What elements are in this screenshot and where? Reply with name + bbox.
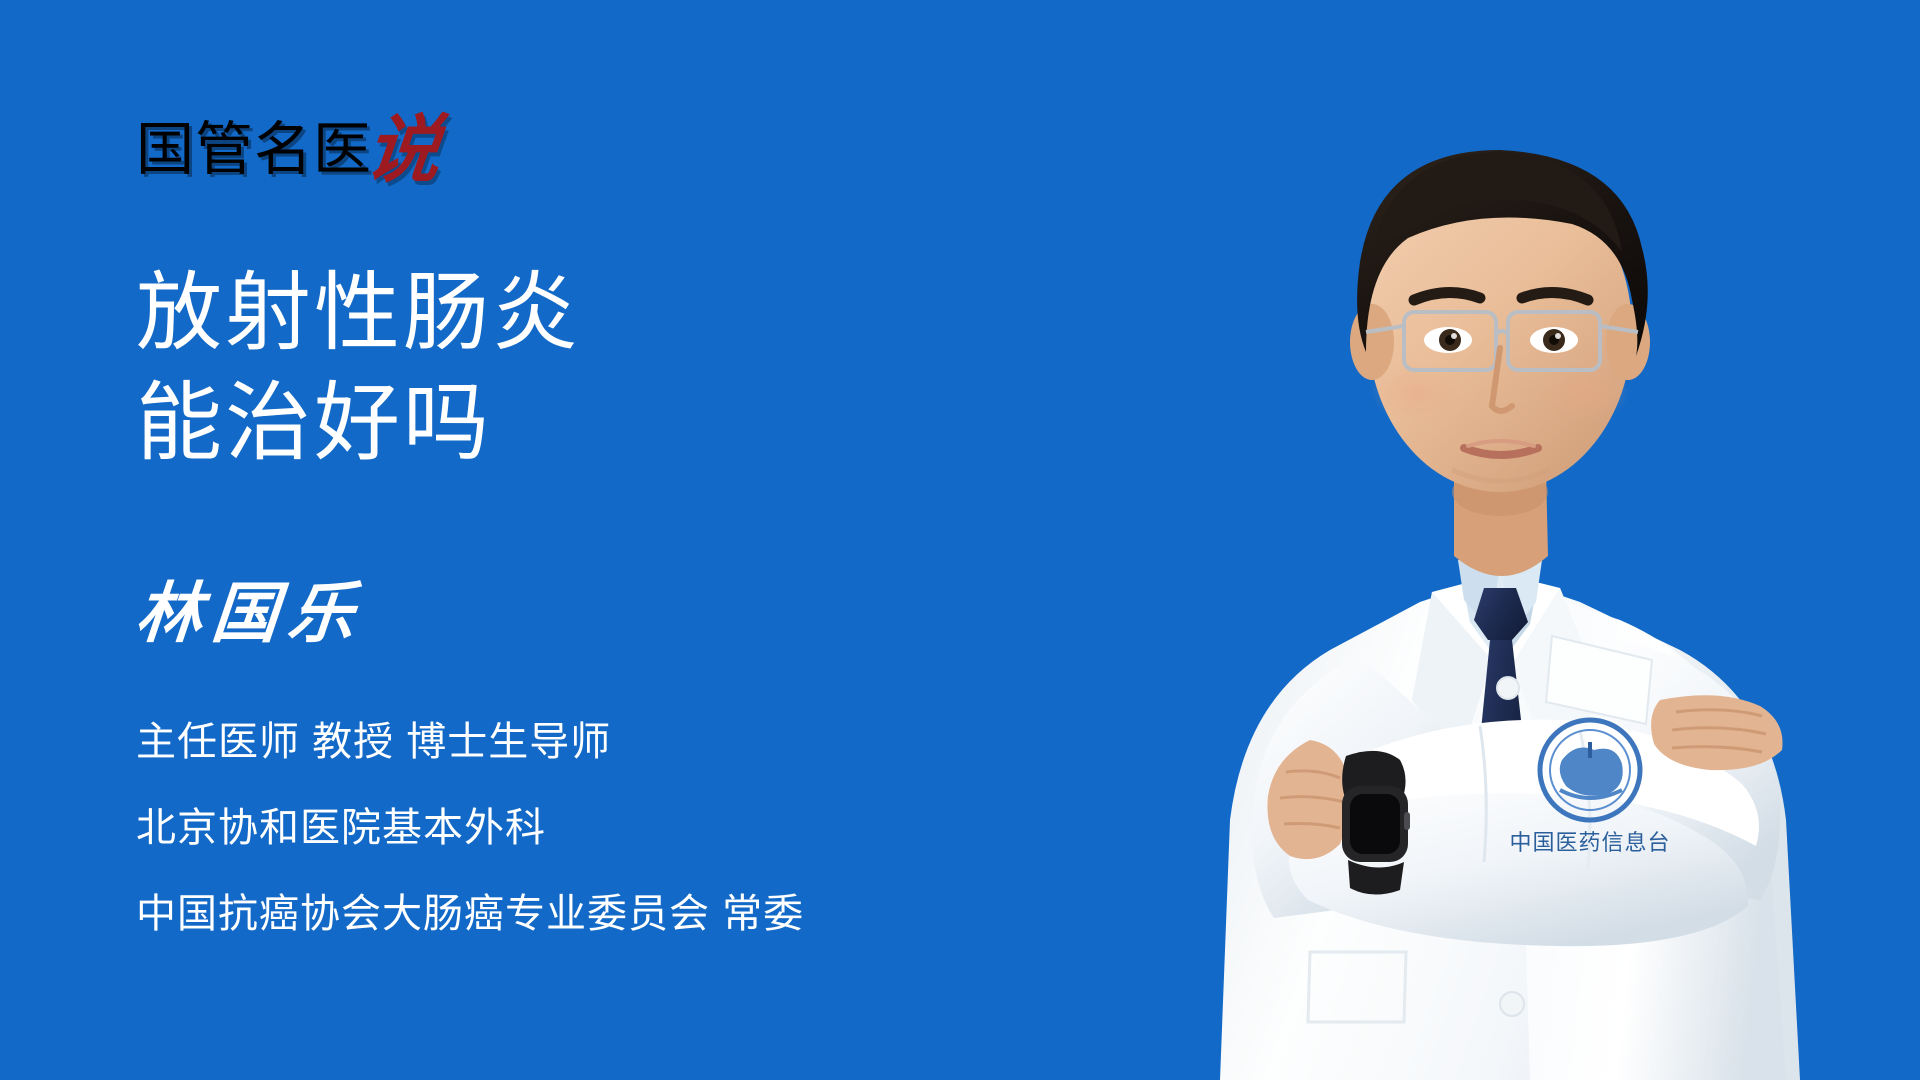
program-logo-accent-text: 说: [362, 114, 444, 188]
glasses-icon: [1366, 312, 1638, 370]
smartwatch: [1342, 751, 1410, 895]
program-logo-main-text: 国管名医: [136, 121, 372, 179]
svg-text:中国医药信息台: 中国医药信息台: [1509, 830, 1670, 855]
text-column: 国管名医 说 放射性肠炎 能治好吗 林国乐 主任医师 教授 博士生导师 北京协和…: [0, 0, 1150, 1080]
doctor-name: 林国乐: [133, 582, 367, 648]
page-title: 放射性肠炎 能治好吗: [136, 258, 581, 478]
program-logo: 国管名医 说: [136, 108, 440, 182]
doctor-photo: 中国医药信息台: [1060, 0, 1920, 1080]
promo-banner: 中国医药信息台 国管名医 说 放射性肠炎 能治好吗 林国乐 主任医师 教授 博士…: [0, 0, 1920, 1080]
credential-line-1: 主任医师 教授 博士生导师: [136, 722, 804, 762]
doctor-credentials: 主任医师 教授 博士生导师 北京协和医院基本外科 中国抗癌协会大肠癌专业委员会 …: [136, 722, 804, 934]
hospital-badge-icon: [1540, 720, 1640, 820]
credential-line-3: 中国抗癌协会大肠癌专业委员会 常委: [136, 894, 804, 934]
credential-line-2: 北京协和医院基本外科: [136, 808, 804, 848]
title-line-2: 能治好吗: [136, 368, 581, 478]
title-line-1: 放射性肠炎: [136, 258, 581, 368]
